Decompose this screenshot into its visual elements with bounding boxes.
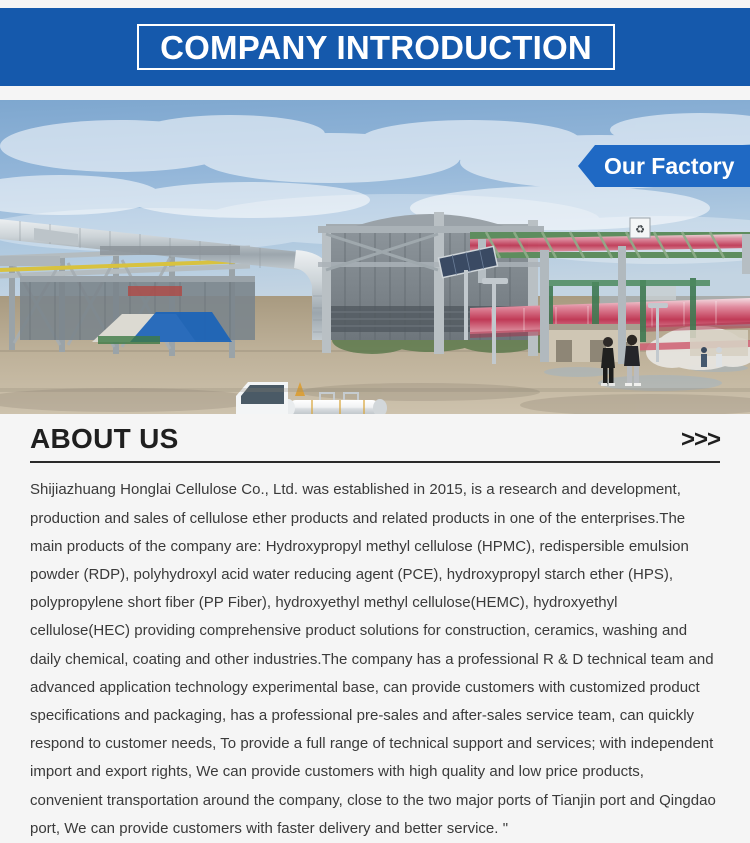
about-us-body-text: Shijiazhuang Honglai Cellulose Co., Ltd.… <box>30 476 720 843</box>
chevron-right-triple-icon: >>> <box>681 427 720 453</box>
about-us-header: ABOUT US >>> <box>30 424 720 463</box>
page-title: COMPANY INTRODUCTION <box>160 31 592 64</box>
header-title-box: COMPANY INTRODUCTION <box>137 24 615 70</box>
header-banner: COMPANY INTRODUCTION <box>0 8 750 86</box>
about-us-section: ABOUT US >>> Shijiazhuang Honglai Cellul… <box>30 424 720 843</box>
our-factory-label: Our Factory <box>578 155 734 178</box>
our-factory-ribbon: Our Factory <box>578 145 750 187</box>
svg-text:♻: ♻ <box>635 224 645 236</box>
company-introduction-page: COMPANY INTRODUCTION <box>0 0 750 806</box>
about-us-heading: ABOUT US <box>30 424 179 453</box>
